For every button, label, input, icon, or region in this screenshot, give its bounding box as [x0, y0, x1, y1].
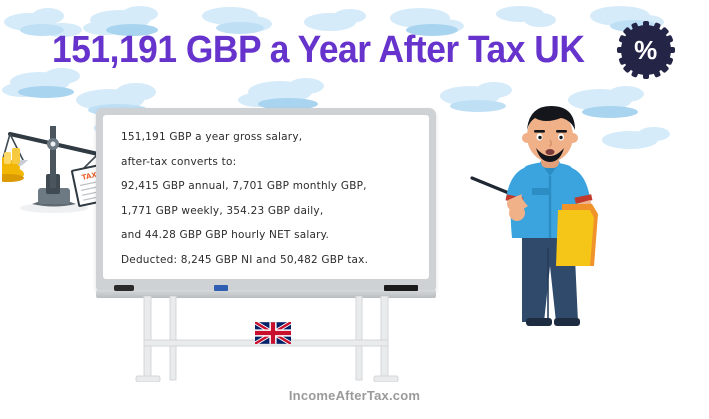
board-line: 92,415 GBP annual, 7,701 GBP monthly GBP…: [121, 180, 421, 192]
eraser-icon: [114, 285, 134, 291]
board-line: and 44.28 GBP GBP hourly NET salary.: [121, 229, 421, 241]
whiteboard: 151,191 GBP a year gross salary, after-t…: [96, 108, 436, 293]
board-line: 1,771 GBP weekly, 354.23 GBP daily,: [121, 205, 421, 217]
percent-badge-icon: %: [615, 19, 677, 81]
board-line: 151,191 GBP a year gross salary,: [121, 131, 421, 143]
balance-scales-icon: TAX: [2, 112, 107, 217]
board-line: after-tax converts to:: [121, 156, 421, 168]
whiteboard-surface: 151,191 GBP a year gross salary, after-t…: [103, 115, 429, 279]
union-jack-flag-icon: [255, 322, 291, 344]
page-title: 151,191 GBP a Year After Tax UK: [52, 29, 584, 72]
page-title-row: 151,191 GBP a Year After Tax UK: [0, 22, 709, 78]
whiteboard-text-block: 151,191 GBP a year gross salary, after-t…: [121, 131, 421, 278]
board-line: Deducted: 8,245 GBP NI and 50,482 GBP ta…: [121, 254, 421, 266]
footer-brand: IncomeAfterTax.com: [0, 388, 709, 403]
percent-symbol: %: [615, 19, 677, 81]
black-marker-icon: [384, 285, 418, 291]
teacher-character-icon: [470, 100, 630, 330]
page-root: 151,191 GBP a Year After Tax UK: [0, 0, 709, 419]
blue-marker-icon: [214, 285, 228, 291]
